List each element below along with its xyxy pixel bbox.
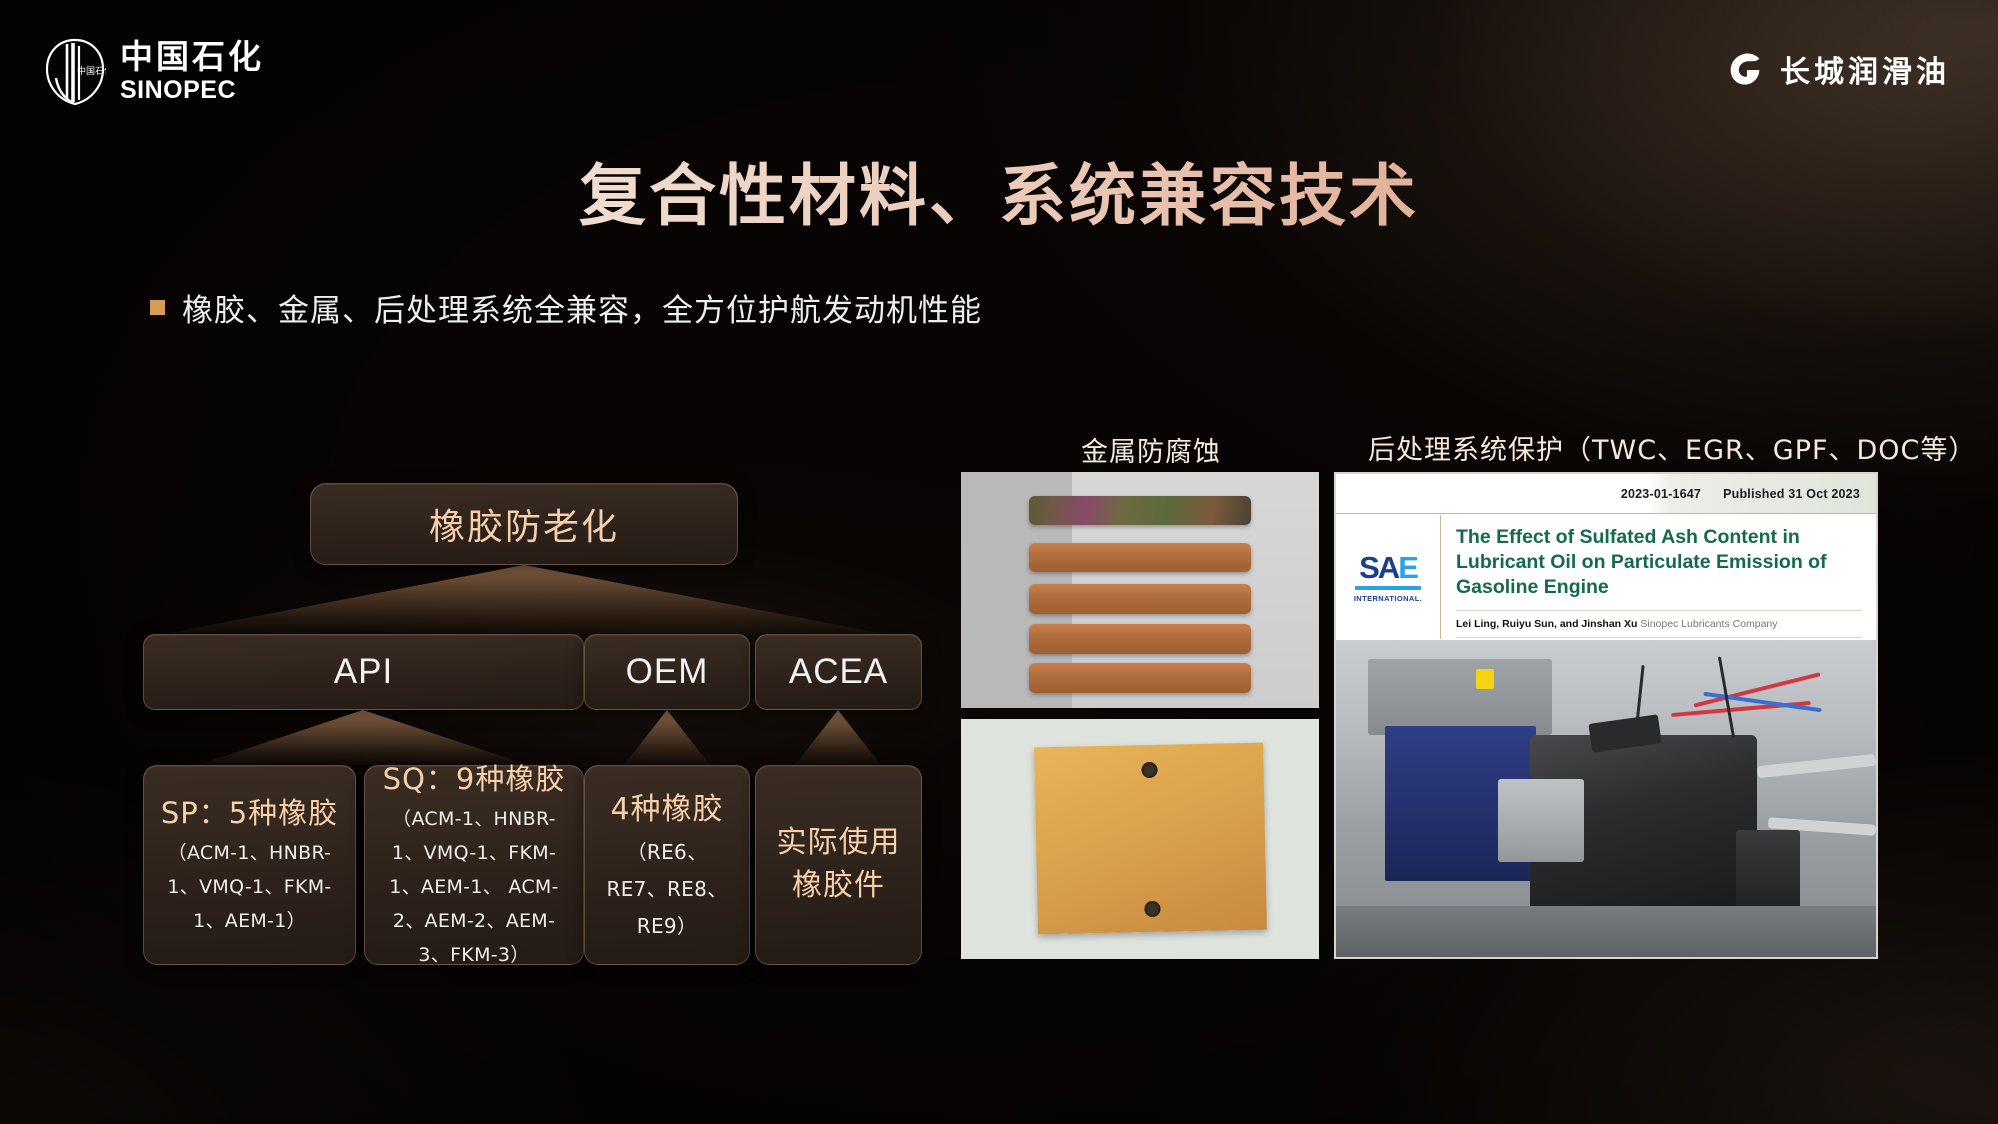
brass-plate-photo bbox=[961, 719, 1319, 959]
diagram-node-sq-head: SQ：9种橡胶 bbox=[383, 756, 566, 798]
sae-paper-panel: 2023-01-1647 Published 31 Oct 2023 SAE I… bbox=[1334, 472, 1878, 959]
copper-strip-2 bbox=[1029, 584, 1251, 614]
engine-head-unit bbox=[1498, 779, 1584, 861]
metal-corrosion-label: 金属防腐蚀 bbox=[1081, 430, 1221, 469]
great-wall-logo: 长城润滑油 bbox=[1727, 47, 1950, 91]
sae-logo-s: S bbox=[1359, 550, 1378, 585]
diagram-node-api-label: API bbox=[334, 652, 393, 692]
diagram-node-api[interactable]: API bbox=[143, 634, 584, 710]
diagram-node-root[interactable]: 橡胶防老化 bbox=[310, 483, 738, 565]
copper-strip-1 bbox=[1029, 543, 1251, 573]
sae-paper-authors-row: Lei Ling, Ruiyu Sun, and Jinshan Xu Sino… bbox=[1456, 610, 1862, 630]
diagram-node-sp[interactable]: SP：5种橡胶 （ACM-1、HNBR-1、VMQ-1、FKM-1、AEM-1） bbox=[143, 765, 356, 965]
copper-strip-3 bbox=[1029, 624, 1251, 654]
test-cell-floor bbox=[1336, 906, 1876, 957]
sae-paper-body: SAE INTERNATIONAL. The Effect of Sulfate… bbox=[1336, 515, 1876, 639]
diagram-node-oem-label: OEM bbox=[626, 652, 709, 692]
diagram-node-actual-parts[interactable]: 实际使用橡胶件 bbox=[755, 765, 922, 965]
sae-paper-published: Published 31 Oct 2023 bbox=[1723, 487, 1860, 501]
slide-canvas: 中国石化 中国石化 SINOPEC 长城润滑油 复合性材料、系统兼容技术 橡胶、… bbox=[0, 0, 1998, 1124]
connector-root-to-level2 bbox=[143, 565, 922, 634]
sae-paper-number: 2023-01-1647 bbox=[1621, 487, 1701, 501]
sae-logo-a: A bbox=[1378, 550, 1398, 585]
plate-hole-top bbox=[1141, 762, 1157, 778]
sae-logo-bar bbox=[1355, 586, 1421, 590]
sae-logo-e: E bbox=[1398, 550, 1417, 585]
diagram-node-acea[interactable]: ACEA bbox=[755, 634, 922, 710]
sae-logo-letters: SAE bbox=[1359, 552, 1417, 583]
sae-paper-authors: Lei Ling, Ruiyu Sun, and Jinshan Xu bbox=[1456, 618, 1637, 630]
copper-strip-test-photo bbox=[961, 472, 1319, 708]
sae-paper-affiliation: Sinopec Lubricants Company bbox=[1640, 618, 1777, 630]
diagram-node-sp-body: （ACM-1、HNBR-1、VMQ-1、FKM-1、AEM-1） bbox=[152, 836, 347, 939]
engine-test-bench-photo bbox=[1336, 640, 1876, 957]
diagram-node-actual-parts-head: 实际使用橡胶件 bbox=[764, 821, 913, 908]
diagram-node-oem[interactable]: OEM bbox=[584, 634, 750, 710]
great-wall-swoosh-icon bbox=[1727, 50, 1765, 88]
connector-oem-to-child bbox=[584, 710, 750, 765]
brass-plate bbox=[1034, 743, 1267, 935]
sae-paper-title: The Effect of Sulfated Ash Content in Lu… bbox=[1456, 525, 1862, 600]
aftertreatment-protection-label: 后处理系统保护（TWC、EGR、GPF、DOC等） bbox=[1368, 428, 1976, 467]
sae-logo: SAE INTERNATIONAL. bbox=[1336, 515, 1441, 639]
diagram-node-sp-head: SP：5种橡胶 bbox=[161, 790, 338, 832]
diagram-node-four-rubbers-head: 4种橡胶 bbox=[610, 784, 723, 828]
diagram-node-sq-body: （ACM-1、HNBR-1、VMQ-1、FKM-1、AEM-1、 ACM-2、A… bbox=[373, 802, 575, 973]
sae-logo-international: INTERNATIONAL. bbox=[1354, 594, 1422, 603]
connector-acea-to-child bbox=[755, 710, 922, 765]
copper-strip-4 bbox=[1029, 663, 1251, 693]
diagram-node-four-rubbers-body: （RE6、RE7、RE8、RE9） bbox=[593, 834, 741, 945]
diagram-node-root-label: 橡胶防老化 bbox=[429, 498, 619, 550]
diagram-node-acea-label: ACEA bbox=[789, 652, 888, 692]
plate-hole-bottom bbox=[1144, 901, 1160, 917]
sae-paper-text: The Effect of Sulfated Ash Content in Lu… bbox=[1441, 515, 1876, 639]
diagram-node-sq[interactable]: SQ：9种橡胶 （ACM-1、HNBR-1、VMQ-1、FKM-1、AEM-1、… bbox=[364, 765, 584, 965]
dynamometer-cover bbox=[1368, 659, 1552, 735]
copper-strip-tarnished bbox=[1029, 496, 1251, 526]
sae-paper-topbar: 2023-01-1647 Published 31 Oct 2023 bbox=[1336, 474, 1876, 514]
diagram-node-four-rubbers[interactable]: 4种橡胶 （RE6、RE7、RE8、RE9） bbox=[584, 765, 750, 965]
great-wall-wordmark: 长城润滑油 bbox=[1780, 47, 1950, 91]
rubber-compatibility-diagram: 橡胶防老化 API OEM ACEA SP：5种橡胶 （ACM-1、HNBR-1… bbox=[0, 0, 960, 1124]
warning-label-icon bbox=[1476, 669, 1494, 689]
